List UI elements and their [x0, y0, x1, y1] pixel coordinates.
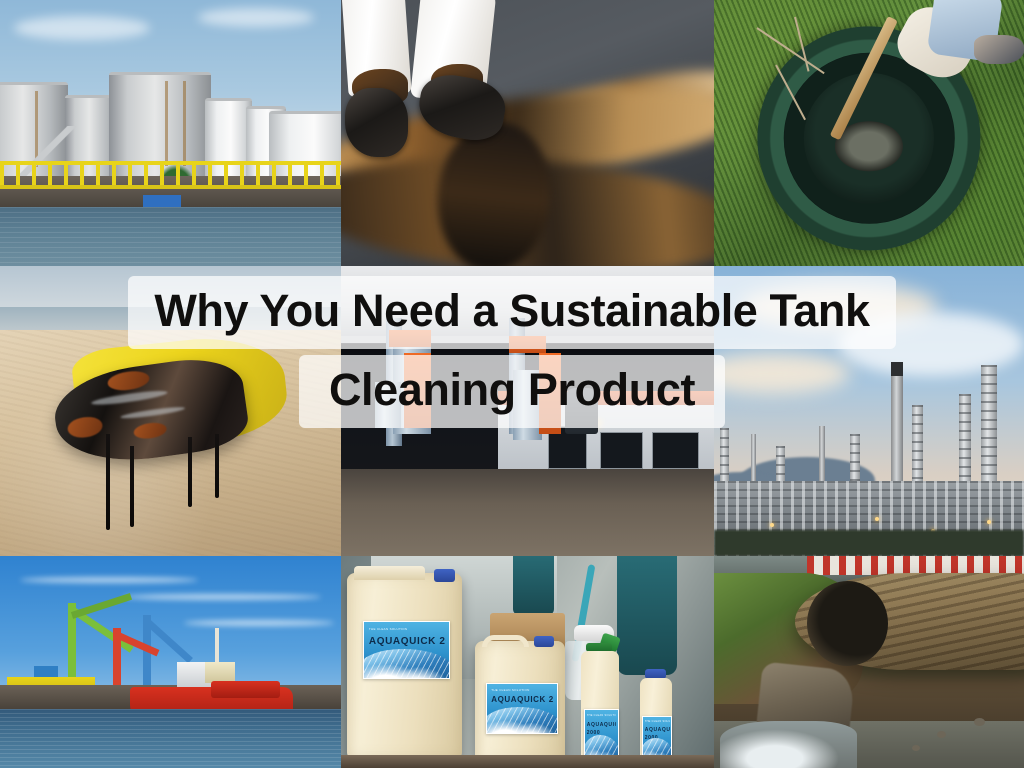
sewage-pipe-scene [714, 556, 1024, 768]
ship-bridge [205, 662, 236, 683]
safety-railing [0, 161, 341, 189]
fuel-pump-panel [539, 353, 561, 434]
product-tagline: THE CLEAN SOLUTION [587, 714, 616, 717]
parked-car [565, 388, 599, 434]
product-tagline: THE CLEAN SOLUTION [369, 627, 444, 631]
pipe-opening [807, 581, 888, 666]
product-container-spray[interactable]: THE CLEAN SOLUTION AQUAQUICK 2000 [580, 645, 621, 768]
product-label: THE CLEAN SOLUTION AQUAQUICK 2000 [486, 683, 558, 734]
cloud [198, 8, 314, 27]
collage-banner: THE CLEAN SOLUTION AQUAQUICK 2000 THE CL… [0, 0, 1024, 768]
floor [341, 755, 714, 768]
rubber-boot [345, 88, 408, 157]
port-scene [0, 556, 341, 768]
collage-cell-port-ship [0, 556, 341, 768]
shop-window [600, 432, 643, 469]
distillation-tower [981, 365, 997, 498]
crane-cab [34, 666, 58, 677]
harbour-water [0, 709, 341, 768]
collage-cell-septic-manhole [714, 0, 1024, 266]
product-brand: AQUAQUICK 2000 [491, 695, 554, 704]
product-tagline: THE CLEAN SOLUTION [645, 720, 670, 723]
oil-drip [215, 434, 219, 498]
collage-cell-gas-station [341, 266, 714, 556]
gas-station-scene [341, 266, 714, 556]
crude-oil-scene [0, 266, 341, 556]
collage-cell-aquaquick-products: THE CLEAN SOLUTION AQUAQUICK 2000 THE CL… [341, 556, 714, 768]
cloud [14, 16, 150, 40]
oil-drip [130, 446, 134, 527]
product-label: THE CLEAN SOLUTION AQUAQUICK 2000 [363, 621, 451, 679]
product-scene: THE CLEAN SOLUTION AQUAQUICK 2000 THE CL… [341, 556, 714, 768]
product-tagline: THE CLEAN SOLUTION [491, 688, 552, 692]
cap [434, 569, 455, 582]
oil-drip [188, 437, 192, 507]
collage-cell-oil-spill-boots [341, 0, 714, 266]
cap [534, 636, 554, 647]
refinery-scene [714, 266, 1024, 556]
work-boot [974, 35, 1024, 64]
wave-graphic [363, 649, 451, 679]
tank-farm-scene [0, 0, 341, 266]
collage-cell-refinery [714, 266, 1024, 556]
septic-manhole-scene [714, 0, 1024, 266]
smokestack [891, 362, 903, 498]
foam [720, 721, 856, 768]
fuel-pump [375, 382, 401, 428]
fuel-pump-panel [404, 353, 430, 428]
collage-cell-tank-farm [0, 0, 341, 266]
oil-spill-scene [341, 0, 714, 266]
collage-cell-crude-oil-glove [0, 266, 341, 556]
collage-cell-sewage-pipe [714, 556, 1024, 768]
product-brand: AQUAQUICK 2000 [369, 636, 446, 647]
ship-mast [215, 628, 219, 662]
product-container-large[interactable]: THE CLEAN SOLUTION AQUAQUICK 2000 [347, 573, 463, 760]
photo-grid: THE CLEAN SOLUTION AQUAQUICK 2000 THE CL… [0, 0, 1024, 768]
pump-sign [509, 336, 546, 353]
oil-drip [106, 434, 110, 530]
forecourt [341, 469, 714, 556]
worker-legs [513, 556, 554, 615]
harbour-crane [113, 628, 119, 692]
worker [617, 556, 677, 675]
harbour-water [0, 207, 341, 266]
product-container-mini[interactable]: THE CLEAN SOLUTION AQUAQUICK 2000 [639, 675, 673, 768]
pump-sign [389, 330, 430, 347]
shop-window [652, 432, 699, 469]
product-container-medium[interactable]: THE CLEAN SOLUTION AQUAQUICK 2000 [475, 641, 565, 764]
treeline [714, 530, 1024, 556]
smokestack-cap [891, 362, 903, 376]
ship-deck-housing [211, 681, 279, 698]
wave-graphic [486, 707, 558, 734]
